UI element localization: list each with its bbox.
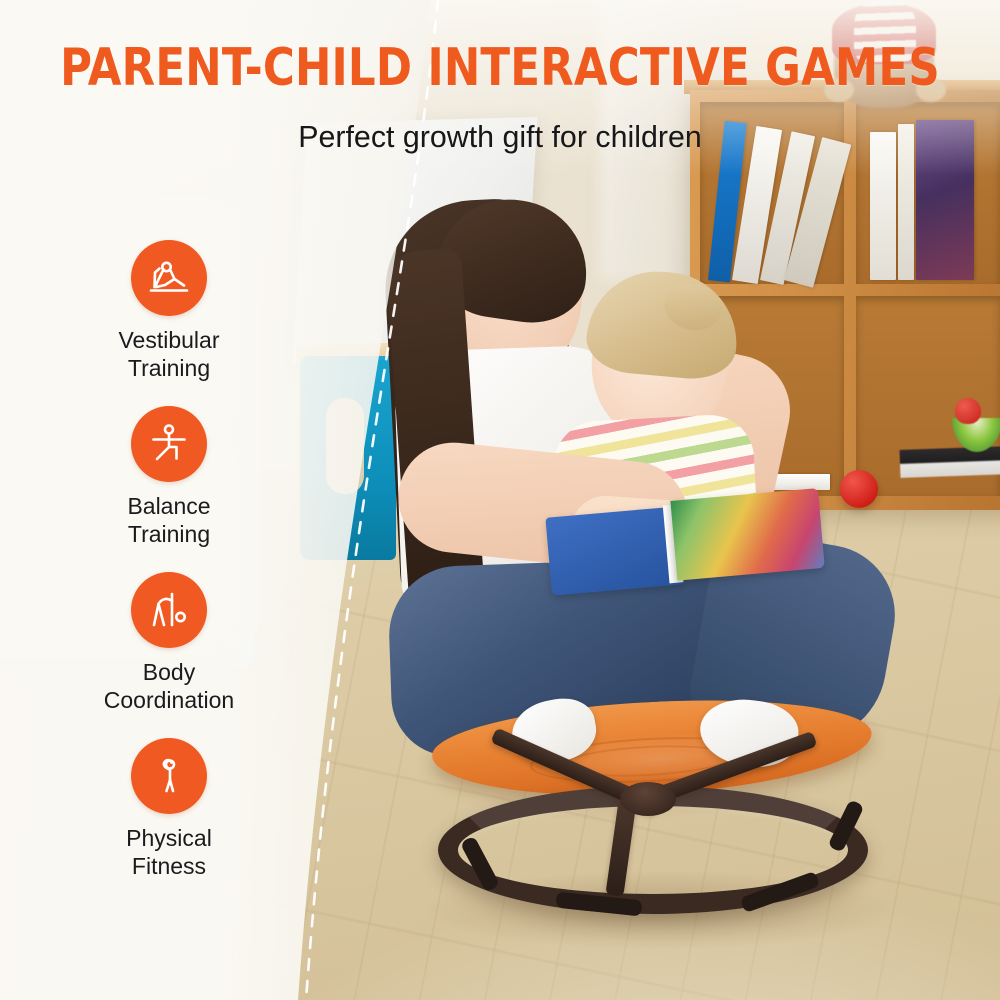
feature-item-balance-training[interactable]: Balance Training: [84, 406, 254, 548]
strawberry-toy: [955, 398, 981, 424]
swivel-hub: [620, 782, 676, 816]
feature-item-physical-fitness[interactable]: Physical Fitness: [84, 738, 254, 880]
toy-easel-leg-cutout: [326, 398, 364, 494]
feature-label: Balance Training: [84, 492, 254, 548]
product-image-stage: PARENT-CHILD INTERACTIVE GAMES Perfect g…: [0, 0, 1000, 1000]
picture-book-left-page: [545, 507, 681, 596]
feature-label: Body Coordination: [84, 658, 254, 714]
feature-item-vestibular-training[interactable]: Vestibular Training: [84, 240, 254, 382]
feature-item-body-coordination[interactable]: Body Coordination: [84, 572, 254, 714]
page-title: PARENT-CHILD INTERACTIVE GAMES: [35, 40, 965, 96]
page-subtitle: Perfect growth gift for children: [10, 118, 990, 156]
feature-label: Physical Fitness: [84, 824, 254, 880]
situp-exercise-icon: [131, 240, 207, 316]
feature-list: Vestibular Training Balance Training: [84, 240, 254, 880]
feature-label: Vestibular Training: [84, 326, 254, 382]
picture-book-right-page: [670, 488, 824, 581]
stretching-figure-icon: [131, 738, 207, 814]
red-ball: [840, 470, 878, 508]
balance-pose-icon: [131, 406, 207, 482]
body-coordination-icon: [131, 572, 207, 648]
dark-book-stack: [900, 446, 1000, 478]
